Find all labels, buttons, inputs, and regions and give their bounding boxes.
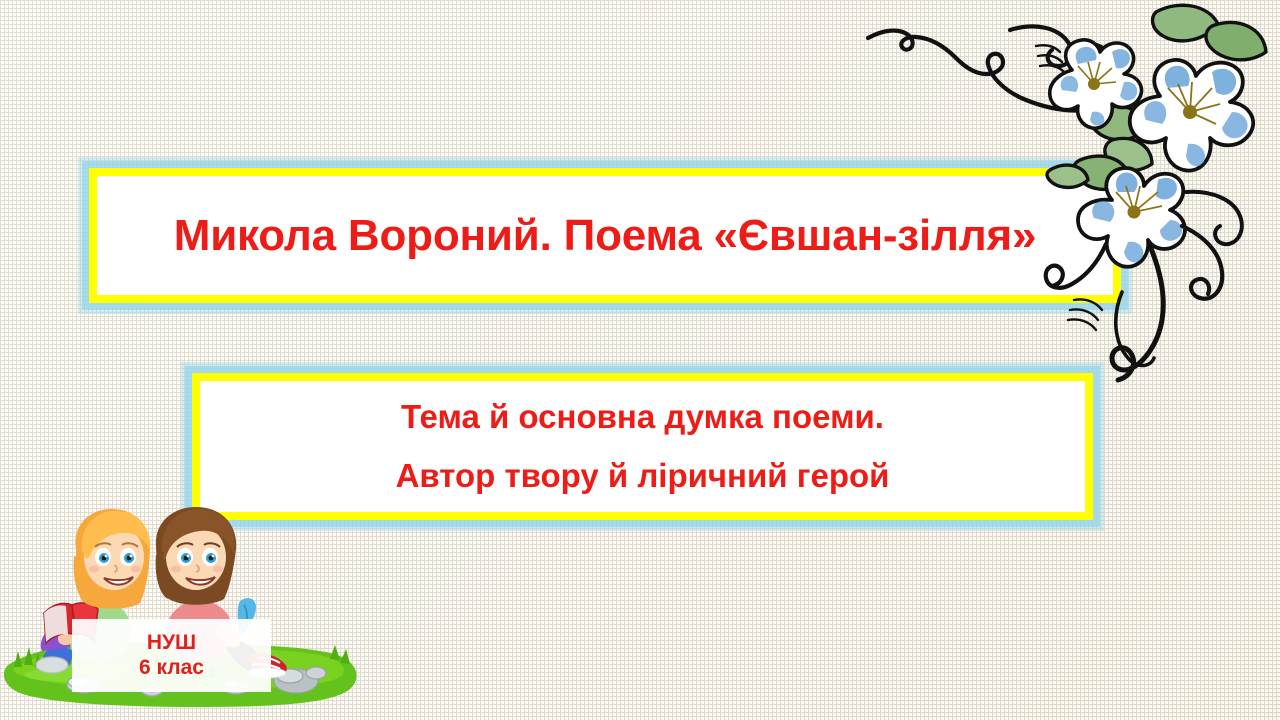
grade-badge-line-2: 6 клас [139, 656, 204, 680]
floral-corner-ornament [860, 0, 1280, 400]
subtitle-line-1: Тема й основна думка поеми. [401, 399, 884, 435]
grade-badge-line-1: НУШ [147, 631, 196, 655]
grade-badge: НУШ 6 клас [72, 619, 271, 692]
slide-canvas: Микола Вороний. Поема «Євшан-зілля» Тема… [0, 0, 1280, 720]
subtitle-line-2: Автор твору й ліричний герой [396, 458, 890, 494]
